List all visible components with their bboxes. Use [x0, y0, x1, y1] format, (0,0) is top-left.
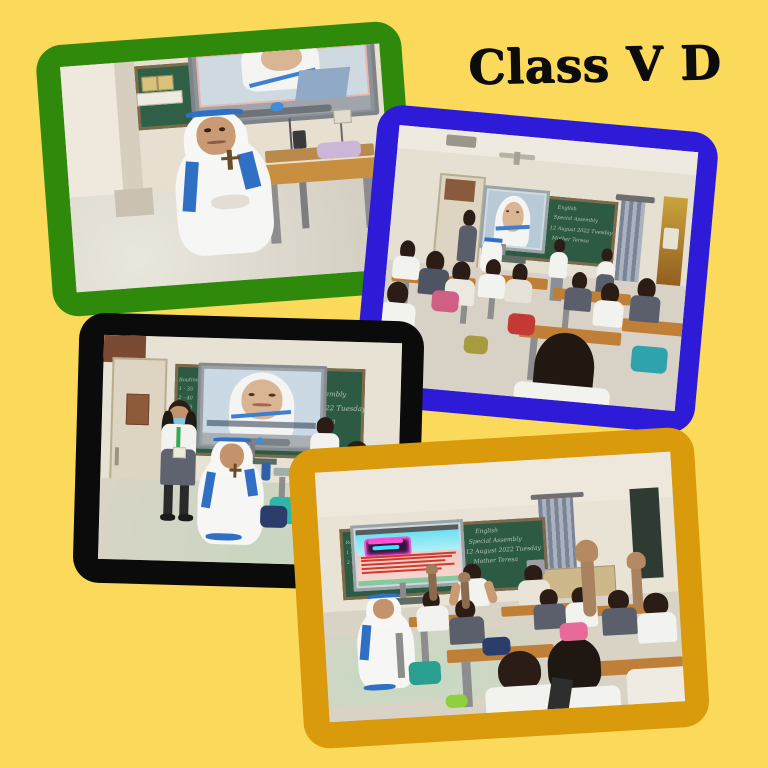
photo-blue-image: English Special Assembly 12 August 2022 … — [376, 125, 698, 411]
photo-green-image — [60, 44, 396, 293]
page-title: Class V D — [467, 35, 721, 95]
photo-frame-green[interactable] — [35, 20, 420, 318]
photo-gold-image: English Special Assembly 12 August 2022 … — [315, 452, 685, 723]
collage-canvas: English Special Assembly 12 August 2022 … — [0, 0, 768, 768]
photo-frame-gold[interactable]: English Special Assembly 12 August 2022 … — [287, 426, 710, 750]
